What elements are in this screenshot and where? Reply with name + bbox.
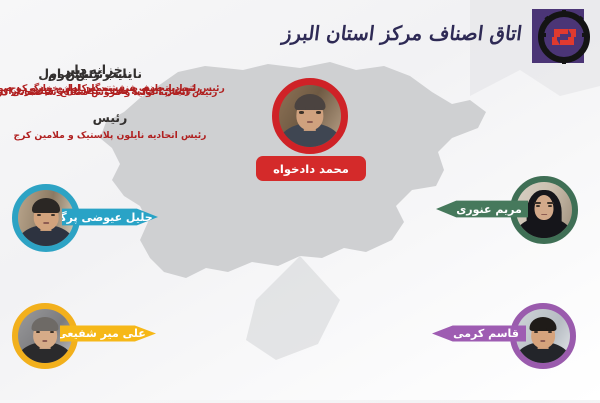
person-card-vice-chair-second[interactable]: جلیل عیوضی پرگو <box>0 184 180 304</box>
person-card-chair[interactable]: محمد دادخواه <box>200 78 420 188</box>
name-badge-chair: محمد دادخواه <box>256 156 366 181</box>
person-card-secretary[interactable]: قاسم کرمی <box>420 303 600 403</box>
logo-emblem <box>552 29 576 45</box>
person-card-vice-chair-first[interactable]: مریم عنوری <box>430 176 600 296</box>
guild-chamber-logo <box>530 5 592 67</box>
person-card-treasurer[interactable]: علی میر شفیعی <box>0 303 180 403</box>
gear-icon <box>538 7 590 65</box>
avatar-chair[interactable] <box>272 78 348 154</box>
page-header: اتاق اصناف مرکز استان البرز <box>0 0 600 72</box>
role-title-chair: رئیس <box>0 110 220 125</box>
map-shadow-tail <box>246 256 340 360</box>
page-title: اتاق اصناف مرکز استان البرز <box>281 22 524 51</box>
